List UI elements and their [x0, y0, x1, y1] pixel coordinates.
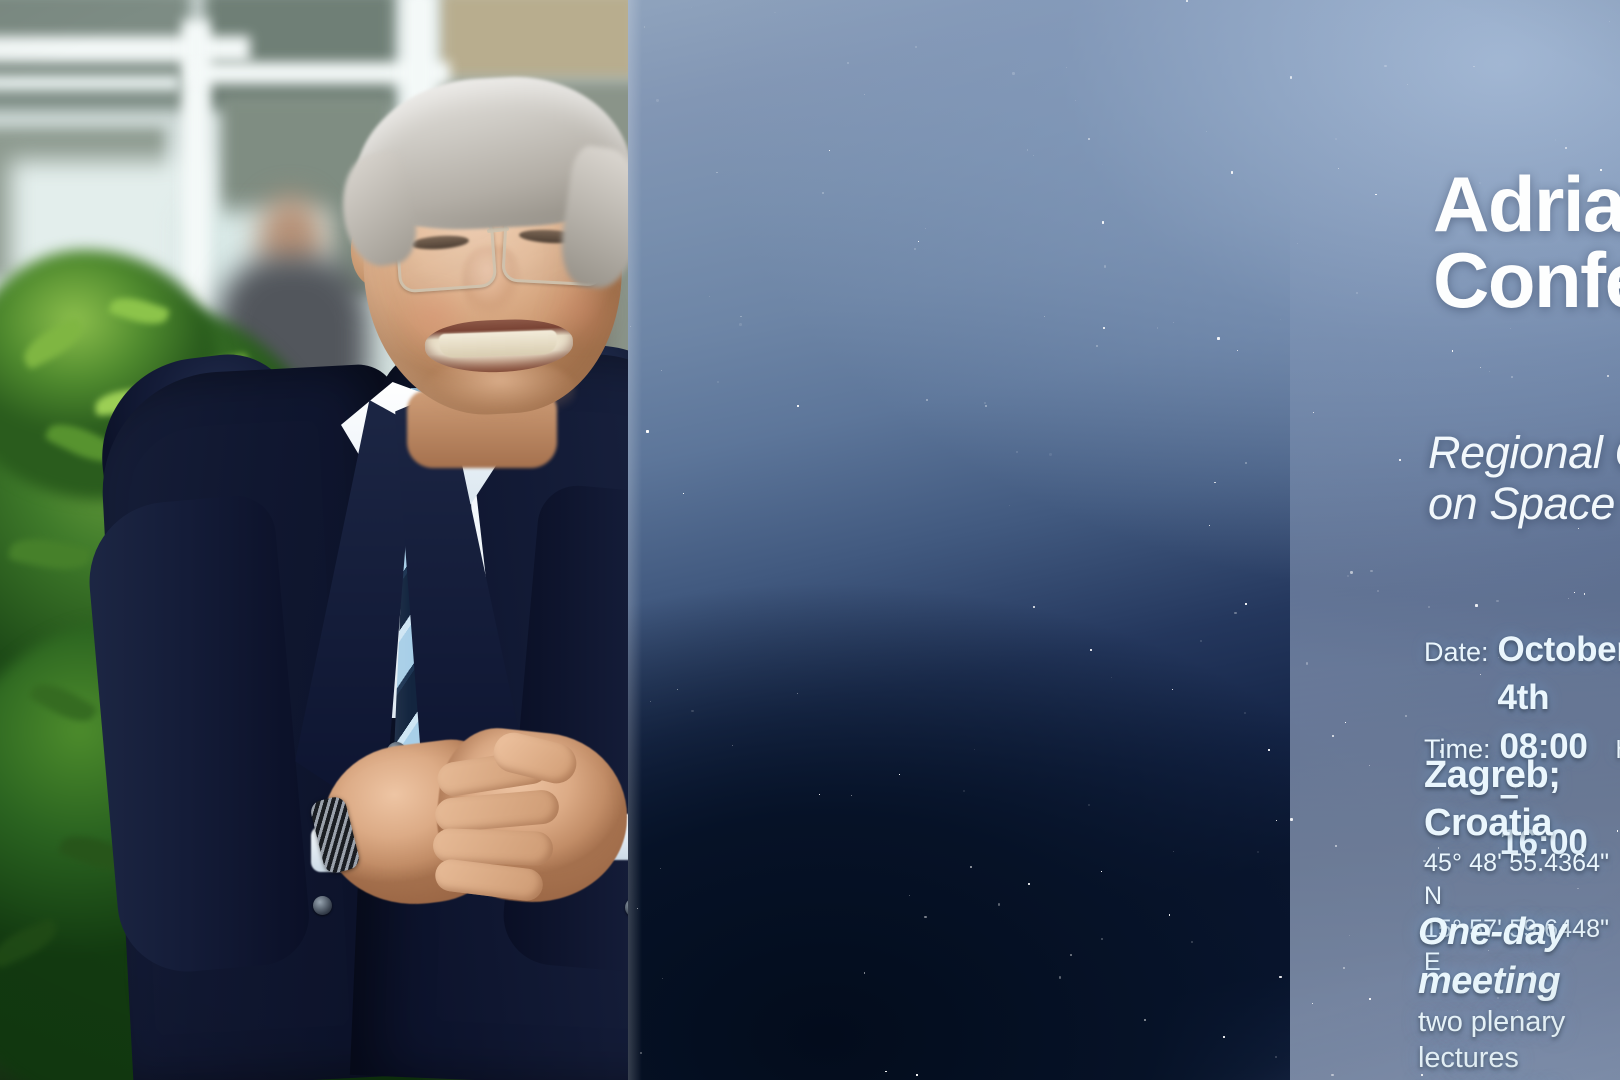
meeting-line-2: by eminent speakers in	[1418, 1076, 1620, 1080]
clasped-hands	[317, 710, 637, 940]
date-label: Date:	[1424, 634, 1489, 671]
subtitle-line-1: Regional Cooperation	[1428, 428, 1620, 479]
suit-sleeve-left	[83, 493, 313, 978]
window-pane	[440, 0, 640, 80]
location-city: Zagreb; Croatia	[1424, 752, 1620, 847]
date-row: Date: October 4th	[1424, 626, 1620, 723]
conference-subtitle: Regional Cooperation on Space Technology	[1428, 428, 1620, 530]
location-latitude: 45° 48' 55.4364" N	[1424, 847, 1620, 913]
title-line-2: Conference	[1433, 242, 1620, 318]
meeting-info-block: One-day meeting two plenary lectures by …	[1418, 908, 1620, 1080]
date-value: October 4th	[1498, 626, 1620, 723]
conference-title: Adria Space Conference	[1433, 166, 1620, 319]
meeting-line-1: two plenary lectures	[1418, 1005, 1620, 1076]
teeth	[439, 330, 558, 358]
subtitle-line-2: on Space Technology	[1428, 479, 1620, 530]
title-line-1: Adria Space	[1433, 166, 1620, 242]
meeting-heading: One-day meeting	[1418, 908, 1620, 1005]
window-frame-bar	[0, 36, 250, 62]
conference-banner: Adriatic Aerospace Association Adria Spa…	[628, 0, 1620, 1080]
banner-left-edge-highlight	[628, 0, 642, 1080]
photo-scene: Adriatic Aerospace Association Adria Spa…	[0, 0, 1620, 1080]
